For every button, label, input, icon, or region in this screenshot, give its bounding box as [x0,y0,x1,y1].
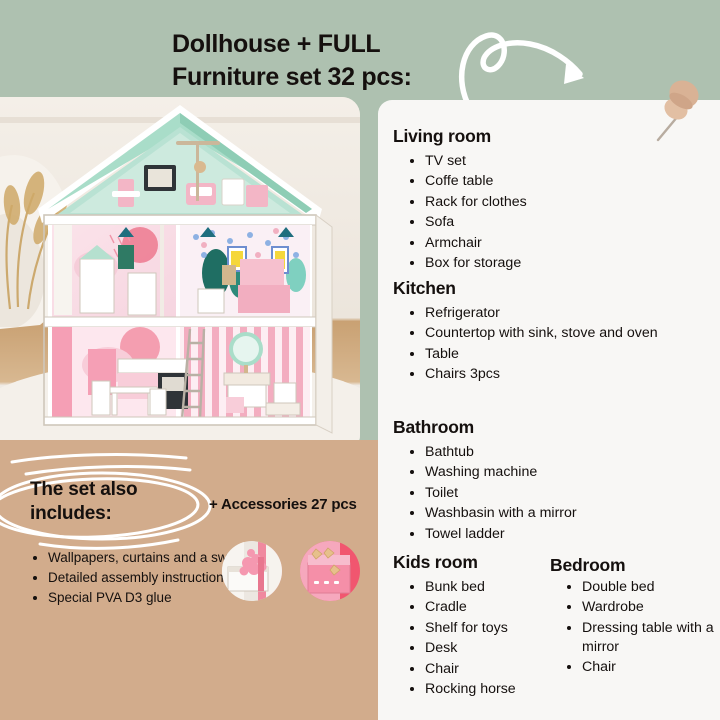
list-item: Desk [425,639,585,658]
list-item: Shelf for toys [425,619,585,638]
list-item: Rocking horse [425,680,585,699]
list-item: Chair [425,660,585,679]
room-list-kitchen: Refrigerator Countertop with sink, stove… [408,304,720,386]
list-item: Toilet [425,484,720,503]
list-item: Coffe table [425,172,715,191]
list-item: Double bed [582,578,720,597]
list-item: Refrigerator [425,304,720,323]
accessory-photo-wardrobe-with-flowers [222,541,282,601]
room-list-bathroom: Bathtub Washing machine Toilet Washbasin… [408,443,720,545]
accessories-label: + Accessories 27 pcs [209,496,357,513]
list-item: Washing machine [425,463,720,482]
list-item: TV set [425,152,715,171]
list-item: Cradle [425,598,585,617]
set-also-title: The set also includes: [30,478,220,527]
list-item: Wardrobe [582,598,720,617]
list-item: Box for storage [425,254,715,273]
page-title: Dollhouse + FULL Furniture set 32 pcs: [172,28,472,94]
room-heading-kitchen: Kitchen [393,278,456,299]
list-item: Sofa [425,213,715,232]
list-item: Bathtub [425,443,720,462]
accessory-photo-pink-dresser-with-bows [300,541,360,601]
list-item: Bunk bed [425,578,585,597]
room-list-bedroom: Double bed Wardrobe Dressing table with … [565,578,720,678]
list-item: Rack for clothes [425,193,715,212]
list-item: Countertop with sink, stove and oven [425,324,720,343]
room-heading-kids-room: Kids room [393,552,478,573]
list-item: Table [425,345,720,364]
furniture-list-panel: Living room TV set Coffe table Rack for … [378,100,720,720]
room-heading-bathroom: Bathroom [393,417,474,438]
list-item: Armchair [425,234,715,253]
dollhouse-product-photo [0,97,360,453]
list-item: Chairs 3pcs [425,365,720,384]
list-item: Dressing table with a mirror [582,619,720,657]
room-list-kids-room: Bunk bed Cradle Shelf for toys Desk Chai… [408,578,585,700]
room-heading-bedroom: Bedroom [550,555,625,576]
list-item: Washbasin with a mirror [425,504,720,523]
list-item: Towel ladder [425,525,720,544]
room-list-living-room: TV set Coffe table Rack for clothes Sofa… [408,152,715,274]
promo-infographic: Dollhouse + FULL Furniture set 32 pcs: [0,0,720,720]
list-item: Chair [582,658,720,677]
room-heading-living-room: Living room [393,126,491,147]
